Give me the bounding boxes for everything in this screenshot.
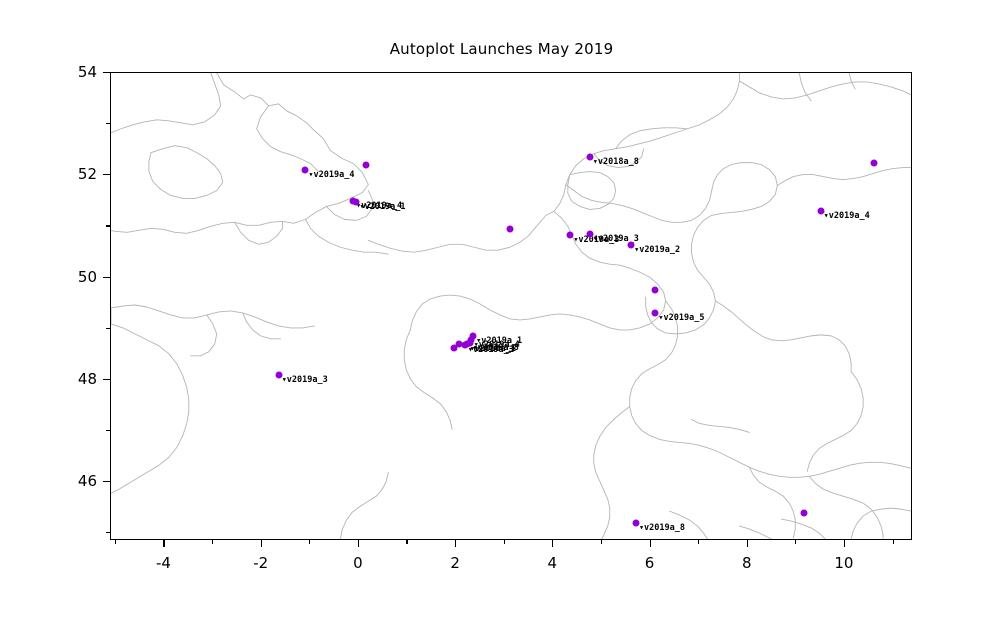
scatter-marker[interactable]	[871, 159, 878, 166]
y-axis-tick-major	[103, 72, 110, 73]
y-axis-tick-minor	[106, 430, 110, 431]
x-axis-tick-major	[261, 540, 262, 547]
x-axis-tick-minor	[115, 540, 116, 544]
y-axis-tick-minor	[106, 123, 110, 124]
x-axis-tick-major	[650, 540, 651, 547]
y-axis-tick-minor	[106, 225, 110, 226]
x-axis-tick-minor	[698, 540, 699, 544]
y-axis-tick-major	[103, 277, 110, 278]
scatter-marker[interactable]	[363, 162, 370, 169]
scatter-marker-label: ▾v2019a_2	[634, 246, 680, 255]
x-axis-tick-label: 2	[450, 554, 460, 572]
scatter-marker-label: ▾v2019a_1	[359, 203, 405, 212]
scatter-marker[interactable]	[800, 509, 807, 516]
x-axis-tick-major	[358, 540, 359, 547]
x-axis-tick-major	[552, 540, 553, 547]
figure-canvas: Autoplot Launches May 2019	[0, 0, 1003, 633]
chart-title: Autoplot Launches May 2019	[0, 40, 1003, 58]
y-axis-tick-major	[103, 379, 110, 380]
y-axis-tick-major	[103, 174, 110, 175]
x-axis-tick-label: -2	[253, 554, 268, 572]
x-axis-tick-minor	[406, 540, 407, 544]
scatter-marker-label: ▾v2019a_5	[658, 314, 704, 323]
map-plot-area[interactable]: ▾v2019a_4▾v2019a_4▾v2019a_1▾v2018a_8▾v20…	[110, 72, 912, 540]
scatter-marker-label: ▾v2019a_3	[468, 346, 514, 355]
x-axis-tick-major	[163, 540, 164, 547]
y-axis-tick-label: 52	[78, 165, 97, 183]
y-axis-tick-label: 54	[78, 63, 97, 81]
scatter-marker-label: ▾v2019a_4	[308, 171, 354, 180]
scatter-marker-label: ▾v2019a_3	[282, 376, 328, 385]
x-axis-tick-major	[455, 540, 456, 547]
y-axis-tick-label: 46	[78, 472, 97, 490]
scatter-markers-layer: ▾v2019a_4▾v2019a_4▾v2019a_1▾v2018a_8▾v20…	[111, 73, 911, 539]
x-axis-tick-minor	[893, 540, 894, 544]
scatter-marker-label: ▾v2018a_8	[593, 158, 639, 167]
x-axis-tick-label: 0	[353, 554, 363, 572]
scatter-marker-label: ▾v2019a_8	[639, 524, 685, 533]
scatter-marker[interactable]	[652, 287, 659, 294]
x-axis-tick-label: 8	[742, 554, 752, 572]
x-axis-tick-label: -4	[156, 554, 171, 572]
scatter-marker-label: ▾v2019a_4	[824, 212, 870, 221]
x-axis-tick-minor	[795, 540, 796, 544]
y-axis-tick-minor	[106, 532, 110, 533]
x-axis-tick-major	[747, 540, 748, 547]
x-axis-tick-minor	[601, 540, 602, 544]
y-axis-tick-label: 50	[78, 268, 97, 286]
y-axis-tick-major	[103, 481, 110, 482]
scatter-marker[interactable]	[506, 226, 513, 233]
x-axis-tick-label: 10	[834, 554, 853, 572]
y-axis-tick-label: 48	[78, 370, 97, 388]
x-axis-tick-label: 4	[548, 554, 558, 572]
scatter-marker[interactable]	[450, 345, 457, 352]
x-axis-tick-minor	[309, 540, 310, 544]
x-axis-tick-major	[844, 540, 845, 547]
x-axis-tick-minor	[504, 540, 505, 544]
x-axis-tick-label: 6	[645, 554, 655, 572]
y-axis-tick-minor	[106, 328, 110, 329]
x-axis-tick-minor	[212, 540, 213, 544]
